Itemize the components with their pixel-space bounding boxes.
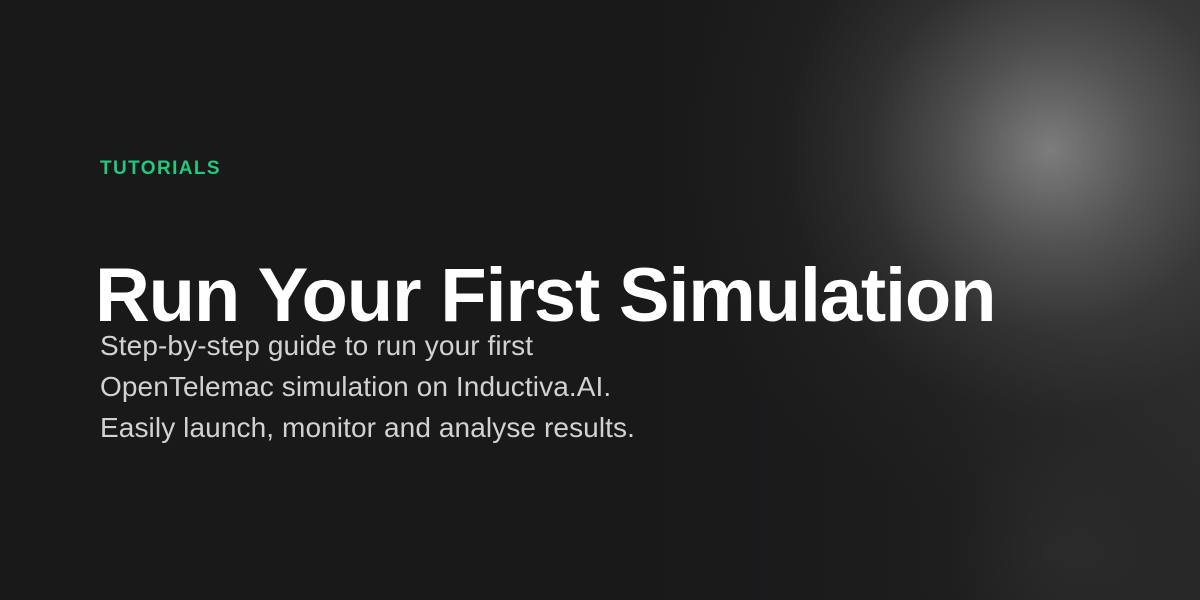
subtitle-line-1: Step-by-step guide to run your first xyxy=(100,325,635,366)
category-eyebrow-label: TUTORIALS xyxy=(100,158,221,180)
banner-content: TUTORIALS Run Your First Simulation Step… xyxy=(100,0,1100,600)
subtitle-line-3: Easily launch, monitor and analyse resul… xyxy=(100,407,635,448)
subtitle-line-2: OpenTelemac simulation on Inductiva.AI. xyxy=(100,366,635,407)
tutorial-hero-banner: TUTORIALS Run Your First Simulation Step… xyxy=(0,0,1200,600)
banner-subtitle: Step-by-step guide to run your first Ope… xyxy=(100,325,635,448)
